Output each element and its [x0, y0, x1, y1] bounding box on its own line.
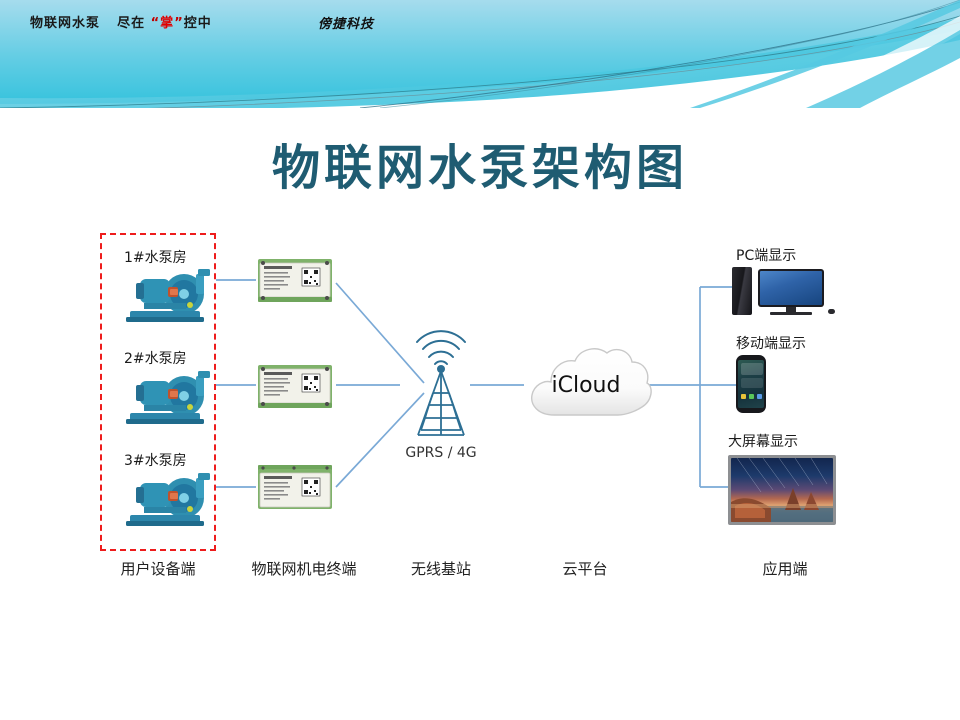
stage-label-iot-terminal: 物联网机电终端	[228, 558, 380, 579]
iot-terminal-module-icon	[256, 361, 334, 411]
monitor-base	[770, 312, 812, 315]
water-pump-icon	[112, 369, 212, 427]
iot-terminal-module-icon	[256, 255, 334, 305]
header-banner: 物联网水泵 尽在 “掌”控中 傍捷科技	[0, 0, 960, 108]
tower-label: GPRS / 4G	[381, 445, 501, 461]
cloud-icon: iCloud	[518, 335, 654, 435]
banner-quote-open: “	[151, 16, 161, 31]
banner-tagline-part2: 尽在	[117, 16, 145, 31]
page-title: 物联网水泵架构图	[0, 128, 960, 198]
cloud-label: iCloud	[518, 335, 654, 435]
banner-quote-close: ”	[174, 16, 184, 31]
architecture-diagram: 1#水泵房 2#水泵	[0, 215, 960, 615]
cell-tower-icon	[396, 325, 486, 445]
pump-label-1: 1#水泵房	[124, 247, 187, 267]
pump-label-3: 3#水泵房	[124, 450, 187, 470]
pc-monitor	[758, 269, 824, 307]
stage-label-cloud-platform: 云平台	[530, 558, 640, 579]
company-brand-name: 傍捷科技	[318, 13, 374, 32]
stage-label-row: 用户设备端 物联网机电终端 无线基站 云平台 应用端	[0, 558, 960, 584]
banner-tagline: 物联网水泵 尽在 “掌”控中	[30, 12, 212, 31]
tv-screen	[731, 458, 833, 522]
app-label-mobile: 移动端显示	[736, 333, 806, 353]
stage-label-user-equipment: 用户设备端	[100, 558, 216, 579]
banner-tagline-highlight: 掌	[160, 16, 174, 31]
iot-terminal-module-icon	[256, 463, 334, 513]
smartphone-icon	[736, 355, 766, 413]
desktop-computer-icon	[732, 267, 836, 319]
app-label-pc: PC端显示	[736, 245, 796, 265]
pc-monitor-screen	[760, 271, 822, 305]
water-pump-icon	[112, 471, 212, 529]
stage-label-application: 应用端	[730, 558, 840, 579]
stage-label-base-station: 无线基站	[386, 558, 496, 579]
phone-screen	[738, 360, 764, 408]
slide-canvas: 物联网水泵 尽在 “掌”控中 傍捷科技 物联网水泵架构图	[0, 0, 960, 720]
app-label-bigscreen: 大屏幕显示	[728, 431, 798, 451]
banner-tagline-part3: 控中	[184, 16, 212, 31]
banner-tagline-part1: 物联网水泵	[30, 16, 100, 31]
pump-label-2: 2#水泵房	[124, 348, 187, 368]
large-screen-tv-icon	[728, 455, 836, 525]
mouse-icon	[828, 309, 835, 314]
water-pump-icon	[112, 267, 212, 325]
pc-tower-unit	[732, 267, 752, 315]
